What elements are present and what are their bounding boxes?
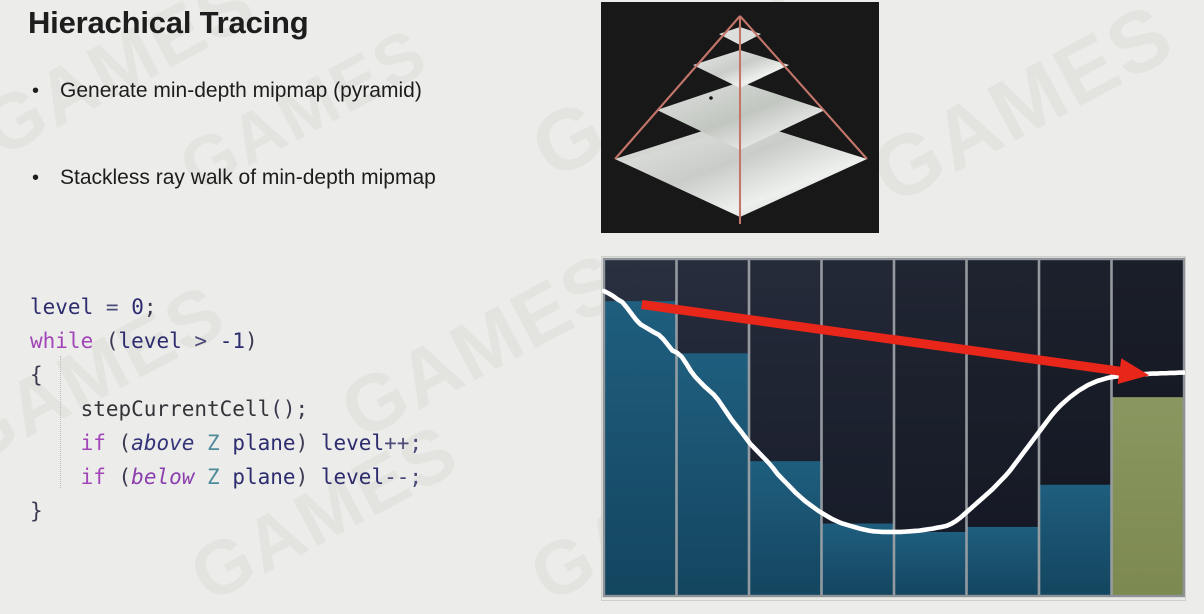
code-token: (); — [270, 397, 308, 421]
list-item: • Stackless ray walk of min-depth mipmap — [28, 165, 588, 191]
code-token — [30, 431, 81, 455]
code-token: 0 — [131, 295, 144, 319]
min-depth-cell — [677, 353, 750, 596]
page-title: Hierachical Tracing — [28, 5, 309, 41]
code-token — [93, 295, 106, 319]
code-token — [220, 431, 233, 455]
code-token — [182, 329, 195, 353]
code-token: above — [131, 431, 194, 455]
code-token: while — [30, 329, 93, 353]
code-snippet: level = 0;while (level > -1){ stepCurren… — [30, 290, 422, 528]
code-token: level — [30, 295, 93, 319]
slide-canvas: GAMES GAMES GAMES GAMES GAMES GAMES GAME… — [0, 0, 1204, 614]
min-depth-cell — [894, 532, 967, 596]
min-depth-cell — [822, 524, 895, 596]
code-token: --; — [384, 465, 422, 489]
ray-walk-chart — [601, 256, 1186, 601]
min-depth-cell-hit — [1112, 397, 1185, 596]
pyramid-detail-dot — [709, 96, 713, 100]
code-line: if (above Z plane) level++; — [30, 426, 422, 460]
code-token — [30, 465, 81, 489]
min-depth-cell — [1039, 485, 1112, 596]
code-token — [194, 431, 207, 455]
code-token: -1 — [220, 329, 245, 353]
code-token: Z — [207, 465, 220, 489]
code-token: { — [30, 363, 43, 387]
code-token: if — [81, 465, 106, 489]
code-token: ) — [245, 329, 258, 353]
code-token: plane — [232, 465, 295, 489]
code-token — [220, 465, 233, 489]
min-depth-cell — [967, 527, 1040, 596]
code-token — [119, 295, 132, 319]
pyramid-svg — [601, 2, 879, 233]
bullet-list: • Generate min-depth mipmap (pyramid) • … — [28, 78, 588, 252]
code-token: ( — [93, 329, 118, 353]
code-token — [207, 329, 220, 353]
code-line: } — [30, 494, 422, 528]
code-token: level — [321, 465, 384, 489]
code-token: = — [106, 295, 119, 319]
bullet-label: Stackless ray walk of min-depth mipmap — [60, 165, 436, 191]
code-line: { — [30, 358, 422, 392]
code-token: ( — [106, 465, 131, 489]
code-line: level = 0; — [30, 290, 422, 324]
code-token: if — [81, 431, 106, 455]
bullet-marker-icon: • — [28, 78, 60, 104]
bullet-marker-icon: • — [28, 165, 60, 191]
code-line: if (below Z plane) level--; — [30, 460, 422, 494]
code-token: } — [30, 499, 43, 523]
code-token: ) — [296, 431, 321, 455]
code-token — [30, 397, 81, 421]
mipmap-pyramid-figure — [601, 2, 879, 233]
code-token: ++; — [384, 431, 422, 455]
code-token: ; — [144, 295, 157, 319]
code-token: below — [131, 465, 194, 489]
code-token: > — [194, 329, 207, 353]
code-token: level — [321, 431, 384, 455]
code-line: while (level > -1) — [30, 324, 422, 358]
ray-walk-svg — [602, 257, 1185, 600]
code-token — [194, 465, 207, 489]
list-item: • Generate min-depth mipmap (pyramid) — [28, 78, 588, 104]
code-token: level — [119, 329, 182, 353]
bullet-label: Generate min-depth mipmap (pyramid) — [60, 78, 422, 104]
watermark-text: GAMES — [856, 0, 1190, 225]
code-token: plane — [232, 431, 295, 455]
code-token: ( — [106, 431, 131, 455]
code-token: stepCurrentCell — [81, 397, 271, 421]
code-line: stepCurrentCell(); — [30, 392, 422, 426]
code-token: Z — [207, 431, 220, 455]
code-token: ) — [296, 465, 321, 489]
